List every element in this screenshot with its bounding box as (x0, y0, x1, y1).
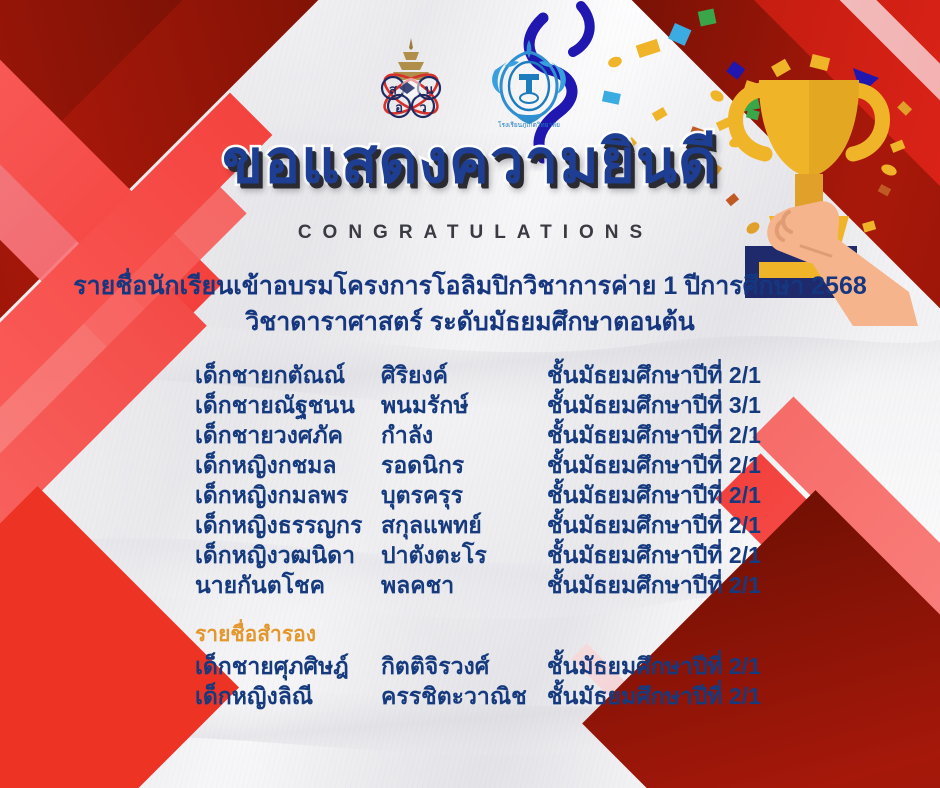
page-title: ขอแสดงความยินดี (0, 132, 940, 192)
table-row: เด็กชายณัฐชนน พนมรักษ์ ชั้นมัธยมศึกษาปีท… (195, 388, 795, 418)
reserve-firstname: เด็กหญิงลิณี (195, 679, 381, 715)
reserve-list-heading: รายชื่อสำรอง (195, 620, 795, 649)
reserve-lastname: ครรชิตะวาณิช (381, 679, 547, 715)
table-row: เด็กหญิงกชมล รอดนิกร ชั้นมัธยมศึกษาปีที่… (195, 448, 795, 478)
congratulations-subtitle: CONGRATULATIONS (0, 222, 940, 244)
table-row: เด็กชายวงศภัค กำลัง ชั้นมัธยมศึกษาปีที่ … (195, 418, 795, 448)
student-lastname: พลคชา (381, 568, 547, 604)
table-row: เด็กหญิงกมลพร บุตรครุร ชั้นมัธยมศึกษาปีท… (195, 478, 795, 508)
student-roster: เด็กชายกตัณณ์ ศิริยงค์ ชั้นมัธยมศึกษาปีท… (195, 358, 795, 709)
reserve-class: ชั้นมัธยมศึกษาปีที่ 2/1 (547, 679, 795, 715)
table-row: เด็กชายกตัณณ์ ศิริยงค์ ชั้นมัธยมศึกษาปีท… (195, 358, 795, 388)
table-row: นายกันตโชค พลคชา ชั้นมัธยมศึกษาปีที่ 2/1 (195, 568, 795, 598)
congratulations-poster: ส น อ ว โรงเรียนภูเก็ตวิทยาลัย ขอแสดงควา… (0, 0, 940, 788)
event-subtitle: รายชื่อนักเรียนเข้าอบรมโครงการโอลิมปิกวิ… (0, 266, 940, 306)
subject-subtitle: วิชาดาราศาสตร์ ระดับมัธยมศึกษาตอนต้น (0, 302, 940, 342)
student-class: ชั้นมัธยมศึกษาปีที่ 2/1 (547, 568, 795, 604)
table-row: เด็กหญิงธรรญกร สกุลแพทย์ ชั้นมัธยมศึกษาป… (195, 508, 795, 538)
table-row: เด็กชายศุภศิษฎ์ กิตติจิรวงศ์ ชั้นมัธยมศึ… (195, 649, 795, 679)
student-firstname: นายกันตโชค (195, 568, 381, 604)
table-row: เด็กหญิงลิณี ครรชิตะวาณิช ชั้นมัธยมศึกษา… (195, 679, 795, 709)
table-row: เด็กหญิงวฒนิดา ปาตังตะโร ชั้นมัธยมศึกษาป… (195, 538, 795, 568)
